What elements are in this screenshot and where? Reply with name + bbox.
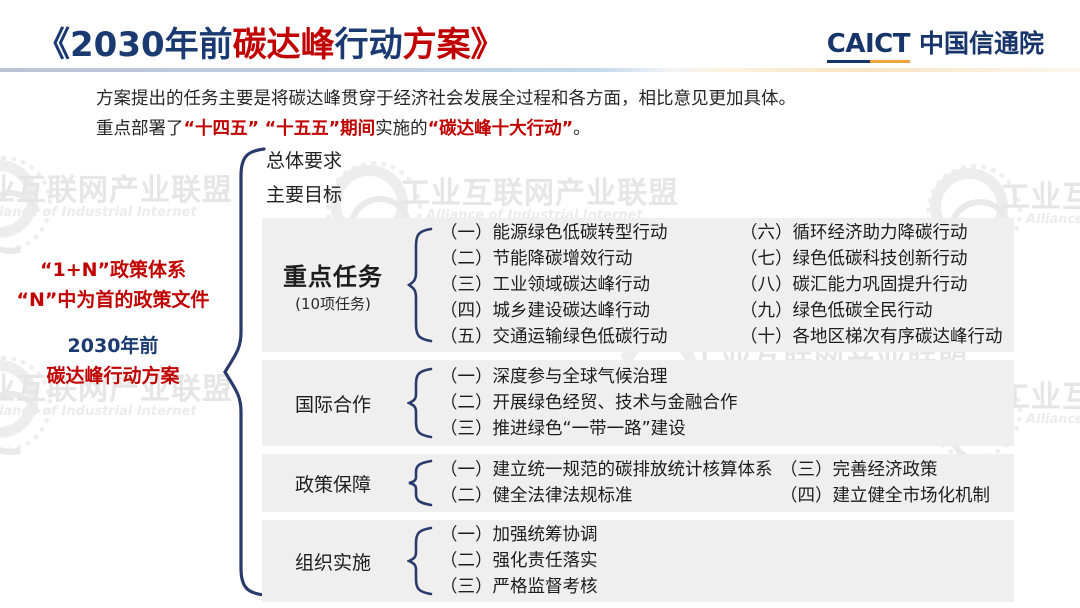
intro-line2-end: 。: [573, 119, 591, 139]
items-column-a: （一）加强统筹协调 （二）强化责任落实 （三）严格监督考核: [440, 522, 1014, 600]
section-subtitle-key-tasks: (10项任务): [266, 293, 400, 314]
list-item: （一）建立统一规范的碳排放统计核算体系: [440, 457, 780, 483]
list-item: （一）深度参与全球气候治理: [440, 364, 1014, 390]
list-item: （二）节能降碳增效行动: [440, 246, 740, 272]
item-number: （五）: [440, 324, 493, 350]
items-column-b: （三）完善经济政策 （四）建立健全市场化机制: [780, 457, 1020, 509]
title-part-2: 碳达峰: [233, 25, 335, 65]
section-label-key-tasks: 重点任务 (10项任务): [262, 257, 400, 314]
section-title-international-cooperation: 国际合作: [266, 390, 400, 417]
list-item: （四）城乡建设碳达峰行动: [440, 298, 740, 324]
intro-line-1: 方案提出的任务主要是将碳达峰贯穿于经济社会发展全过程和各方面，相比意见更加具体。: [96, 84, 996, 114]
list-item: （六）循环经济助力降碳行动: [740, 220, 1020, 246]
item-number: （四）: [440, 298, 493, 324]
item-number: （一）: [440, 457, 493, 483]
section-title-key-tasks: 重点任务: [266, 257, 400, 292]
caict-wordmark: CAICT: [827, 29, 910, 63]
items-key-tasks: （一）能源绿色低碳转型行动 （二）节能降碳增效行动 （三）工业领域碳达峰行动 （…: [440, 220, 1020, 350]
section-international-cooperation: 国际合作 （一）深度参与全球气候治理 （二）开展绿色经贸、技术与金融合作 （三）…: [262, 360, 1014, 446]
section-policy-guarantee: 政策保障 （一）建立统一规范的碳排放统计核算体系 （二）健全法律法规标准 （三）…: [262, 454, 1014, 512]
item-number: （二）: [440, 548, 493, 574]
intro-emphasis-2: “十五五”期间: [265, 119, 376, 139]
swirl-watermark-icon: [0, 380, 53, 465]
item-text: 工业领域碳达峰行动: [493, 275, 651, 295]
item-text: 健全法律法规标准: [493, 486, 633, 506]
gear-watermark-icon: [0, 160, 38, 238]
item-number: （九）: [740, 298, 793, 324]
intro-paragraph: 方案提出的任务主要是将碳达峰贯穿于经济社会发展全过程和各方面，相比意见更加具体。…: [96, 84, 996, 144]
items-column-a: （一）建立统一规范的碳排放统计核算体系 （二）健全法律法规标准: [440, 457, 780, 509]
section-title-organizational-implementation: 组织实施: [266, 548, 400, 575]
items-column-a: （一）能源绿色低碳转型行动 （二）节能降碳增效行动 （三）工业领域碳达峰行动 （…: [440, 220, 740, 350]
section-organizational-implementation: 组织实施 （一）加强统筹协调 （二）强化责任落实 （三）严格监督考核: [262, 520, 1014, 602]
list-item: （七）绿色低碳科技创新行动: [740, 246, 1020, 272]
item-text: 能源绿色低碳转型行动: [493, 223, 668, 243]
item-text: 完善经济政策: [833, 460, 938, 480]
item-number: （三）: [440, 416, 493, 442]
outline-row-main-goals: 主要目标: [262, 180, 1014, 210]
left-label-action-plan: 碳达峰行动方案: [0, 361, 226, 391]
items-policy-guarantee: （一）建立统一规范的碳排放统计核算体系 （二）健全法律法规标准 （三）完善经济政…: [440, 457, 1020, 509]
list-item: （四）建立健全市场化机制: [780, 483, 1020, 509]
watermark-text-left: 工业互联网产业联盟 Alliance of Industrial Interne…: [0, 165, 233, 220]
intro-emphasis-3: “碳达峰十大行动”: [428, 119, 574, 139]
item-text: 建立统一规范的碳排放统计核算体系: [493, 460, 773, 480]
swirl-watermark-icon: [0, 179, 53, 264]
item-text: 建立健全市场化机制: [833, 486, 991, 506]
brace-policy-guarantee: [400, 458, 440, 508]
list-item: （二）强化责任落实: [440, 548, 1014, 574]
item-text: 交通运输绿色低碳行动: [493, 327, 668, 347]
item-text: 城乡建设碳达峰行动: [493, 301, 651, 321]
item-number: （二）: [440, 246, 493, 272]
brace-key-tasks: [400, 226, 440, 344]
item-text: 开展绿色经贸、技术与金融合作: [493, 393, 738, 413]
list-item: （一）加强统筹协调: [440, 522, 1014, 548]
list-item: （三）严格监督考核: [440, 574, 1014, 600]
item-number: （一）: [440, 522, 493, 548]
title-part-1: 《2030年前: [36, 25, 233, 65]
item-text: 碳汇能力巩固提升行动: [793, 275, 968, 295]
brace-international-cooperation: [400, 366, 440, 440]
list-item: （三）完善经济政策: [780, 457, 1020, 483]
item-text: 推进绿色“一带一路”建设: [493, 419, 686, 439]
page-title: 《2030年前碳达峰行动方案》: [36, 17, 505, 66]
section-label-policy-guarantee: 政策保障: [262, 470, 400, 497]
items-column-b: （六）循环经济助力降碳行动 （七）绿色低碳科技创新行动 （八）碳汇能力巩固提升行…: [740, 220, 1020, 350]
item-text: 强化责任落实: [493, 551, 598, 571]
title-part-4: 方案》: [403, 25, 505, 65]
item-text: 绿色低碳科技创新行动: [793, 249, 968, 269]
main-grouping-brace: [222, 146, 266, 598]
intro-emphasis-1: “十四五”: [184, 119, 260, 139]
left-label-lead-document: “N”中为首的政策文件: [0, 285, 226, 315]
left-label-spacer: [0, 315, 226, 331]
left-label-before-2030: 2030年前: [0, 331, 226, 361]
list-item: （二）开展绿色经贸、技术与金融合作: [440, 390, 1014, 416]
section-key-tasks: 重点任务 (10项任务) （一）能源绿色低碳转型行动 （二）节能降碳增效行动 （…: [262, 218, 1014, 352]
item-number: （六）: [740, 220, 793, 246]
list-item: （十）各地区梯次有序碳达峰行动: [740, 324, 1020, 350]
intro-line2-prefix: 重点部署了: [96, 119, 184, 139]
title-part-3: 行动: [335, 25, 403, 65]
list-item: （三）推进绿色“一带一路”建设: [440, 416, 1014, 442]
item-number: （十）: [740, 324, 793, 350]
section-label-international-cooperation: 国际合作: [262, 390, 400, 417]
section-title-policy-guarantee: 政策保障: [266, 470, 400, 497]
item-number: （三）: [440, 272, 493, 298]
outline-row-overall-requirements: 总体要求: [262, 146, 1014, 176]
list-item: （二）健全法律法规标准: [440, 483, 780, 509]
list-item: （九）绿色低碳全民行动: [740, 298, 1020, 324]
item-text: 严格监督考核: [493, 577, 598, 597]
intro-line-2: 重点部署了“十四五” “十五五”期间实施的“碳达峰十大行动”。: [96, 114, 996, 144]
intro-line2-middle: 实施的: [375, 119, 428, 139]
items-organizational-implementation: （一）加强统筹协调 （二）强化责任落实 （三）严格监督考核: [440, 522, 1014, 600]
list-item: （一）能源绿色低碳转型行动: [440, 220, 740, 246]
item-number: （二）: [440, 390, 493, 416]
page-header: 《2030年前碳达峰行动方案》 CAICT 中国信通院: [0, 0, 1080, 72]
item-number: （一）: [440, 220, 493, 246]
item-text: 加强统筹协调: [493, 525, 598, 545]
item-number: （二）: [440, 483, 493, 509]
item-text: 深度参与全球气候治理: [493, 367, 668, 387]
list-item: （八）碳汇能力巩固提升行动: [740, 272, 1020, 298]
items-international-cooperation: （一）深度参与全球气候治理 （二）开展绿色经贸、技术与金融合作 （三）推进绿色“…: [440, 364, 1014, 442]
left-label-group: “1+N”政策体系 “N”中为首的政策文件 2030年前 碳达峰行动方案: [0, 255, 226, 391]
item-number: （四）: [780, 483, 833, 509]
caict-logo: CAICT 中国信通院: [827, 24, 1044, 63]
item-text: 各地区梯次有序碳达峰行动: [793, 327, 1003, 347]
list-item: （三）工业领域碳达峰行动: [440, 272, 740, 298]
left-label-policy-system: “1+N”政策体系: [0, 255, 226, 285]
brace-organizational-implementation: [400, 525, 440, 597]
outline-content: 总体要求 主要目标 重点任务 (10项任务) （一）能源绿色低碳转型行动 （二）…: [262, 146, 1014, 602]
item-number: （一）: [440, 364, 493, 390]
item-text: 节能降碳增效行动: [493, 249, 633, 269]
item-number: （八）: [740, 272, 793, 298]
section-label-organizational-implementation: 组织实施: [262, 548, 400, 575]
list-item: （五）交通运输绿色低碳行动: [440, 324, 740, 350]
item-number: （七）: [740, 246, 793, 272]
caict-chinese-name: 中国信通院: [919, 24, 1044, 60]
item-number: （三）: [440, 574, 493, 600]
item-number: （三）: [780, 457, 833, 483]
items-column-a: （一）深度参与全球气候治理 （二）开展绿色经贸、技术与金融合作 （三）推进绿色“…: [440, 364, 1014, 442]
item-text: 绿色低碳全民行动: [793, 301, 933, 321]
item-text: 循环经济助力降碳行动: [793, 223, 968, 243]
